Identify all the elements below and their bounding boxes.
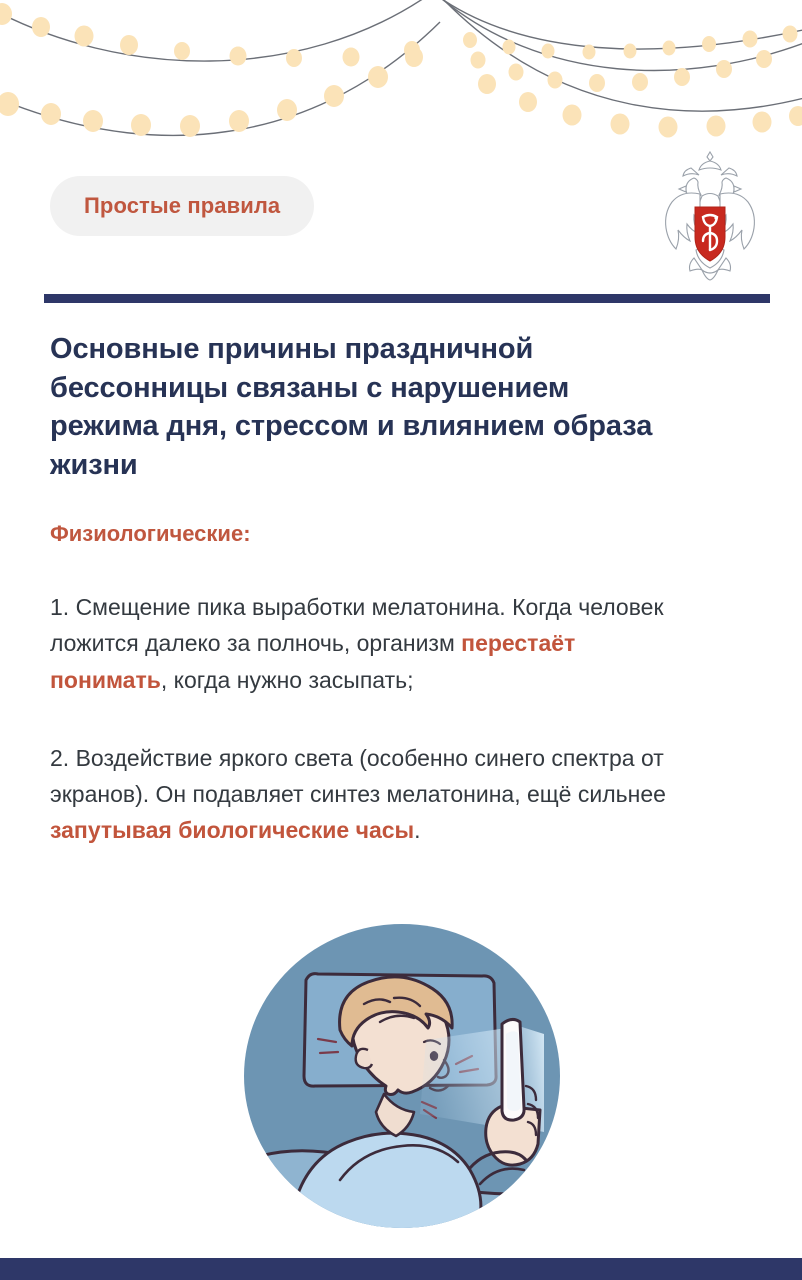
poster-content: Основные причины праздничной бессонницы … [50,330,740,849]
reason-2-text-before: 2. Воздействие яркого света (особенно си… [50,745,666,807]
reason-paragraph-1: 1. Смещение пика выработки мелатонина. К… [50,589,690,698]
garland-bulbs [0,3,802,138]
reason-2-highlight: запутывая биологические часы [50,817,414,843]
person-in-bed-using-phone-illustration [244,918,560,1234]
reason-1-text-after: , когда нужно засыпать; [161,667,414,693]
poster-root: Простые правила [0,0,802,1280]
reason-2-text-after: . [414,817,420,843]
section-subheading-physiological: Физиологические: [50,520,740,549]
page-title: Основные причины праздничной бессонницы … [50,330,670,484]
poster-header: Простые правила [0,168,802,280]
footer-accent-bar [0,1258,802,1280]
reason-paragraph-2: 2. Воздействие яркого света (особенно си… [50,740,690,849]
section-divider [44,294,770,303]
roszdravnadzor-eagle-emblem-icon [650,146,770,286]
simple-rules-badge[interactable]: Простые правила [50,176,314,236]
